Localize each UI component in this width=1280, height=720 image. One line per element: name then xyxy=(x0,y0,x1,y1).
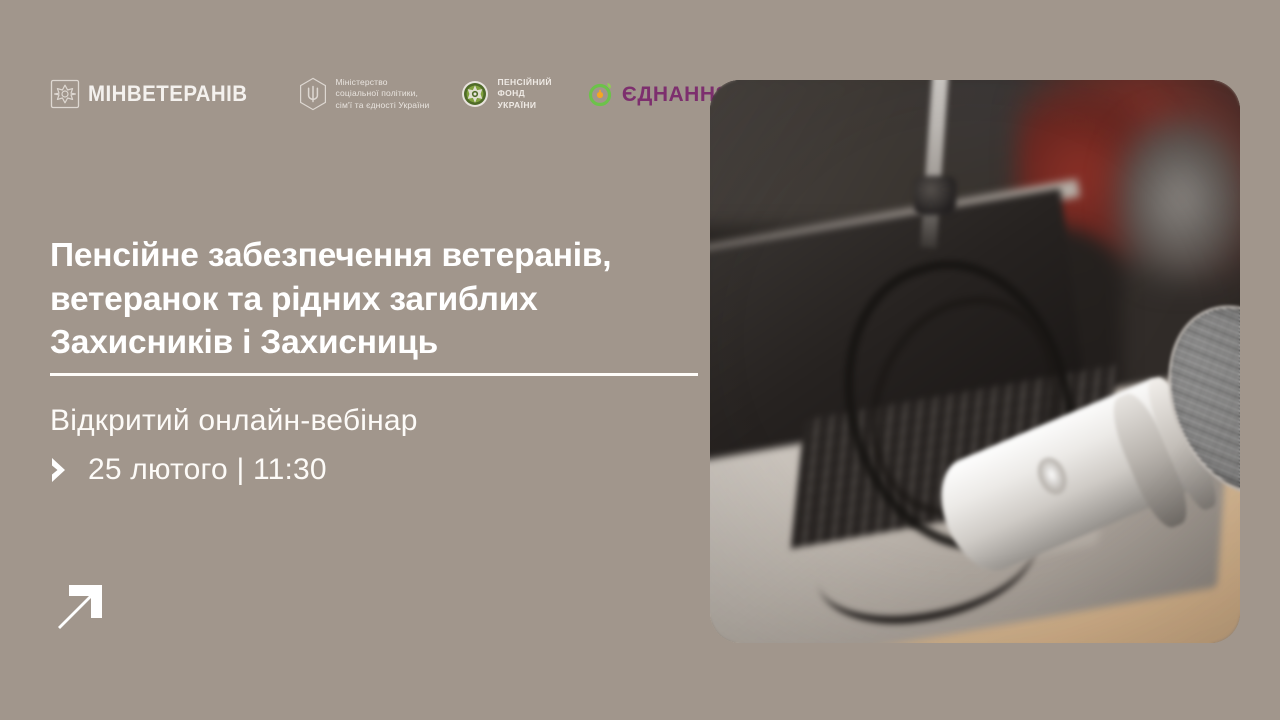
logo-minveteraniv-wordmark: МІНВЕТЕРАНІВ xyxy=(88,83,248,105)
hero-photo xyxy=(710,80,1240,643)
ministry-line-3: сім'ї та єдності України xyxy=(336,100,430,111)
minveteraniv-cross-emblem-icon xyxy=(50,79,80,109)
arrow-up-right-icon xyxy=(45,572,117,644)
logo-pension-fund: ПЕНСІЙНИЙ ФОНД УКРАЇНИ xyxy=(461,77,551,110)
logo-pension-fund-text: ПЕНСІЙНИЙ ФОНД УКРАЇНИ xyxy=(497,77,551,110)
pfu-line-3: УКРАЇНИ xyxy=(497,100,551,111)
ministry-line-2: соціальної політики, xyxy=(336,88,430,99)
title-divider xyxy=(50,373,698,376)
partner-logo-bar: МІНВЕТЕРАНІВ Міністерство соціальної пол… xyxy=(50,68,731,120)
page-title: Пенсійне забезпечення ветеранів, ветеран… xyxy=(50,234,700,365)
logo-ministry-social-policy: Міністерство соціальної політики, сім'ї … xyxy=(298,77,430,111)
ukraine-trident-hexagon-icon xyxy=(298,77,328,111)
pension-fund-emblem-icon xyxy=(461,80,489,108)
logo-minveteraniv: МІНВЕТЕРАНІВ xyxy=(50,79,260,109)
logo-ministry-social-policy-text: Міністерство соціальної політики, сім'ї … xyxy=(336,77,430,111)
photo-vignette-overlay xyxy=(710,80,1240,643)
ministry-line-1: Міністерство xyxy=(336,77,430,88)
event-date-row: 25 лютого | 11:30 xyxy=(50,452,327,488)
event-subtitle: Відкритий онлайн-вебінар xyxy=(50,403,418,439)
event-date-text: 25 лютого | 11:30 xyxy=(88,452,327,488)
pfu-line-1: ПЕНСІЙНИЙ xyxy=(497,77,551,88)
chevron-right-icon xyxy=(50,455,72,485)
ednannia-circle-icon xyxy=(588,81,614,107)
pfu-line-2: ФОНД xyxy=(497,88,551,99)
